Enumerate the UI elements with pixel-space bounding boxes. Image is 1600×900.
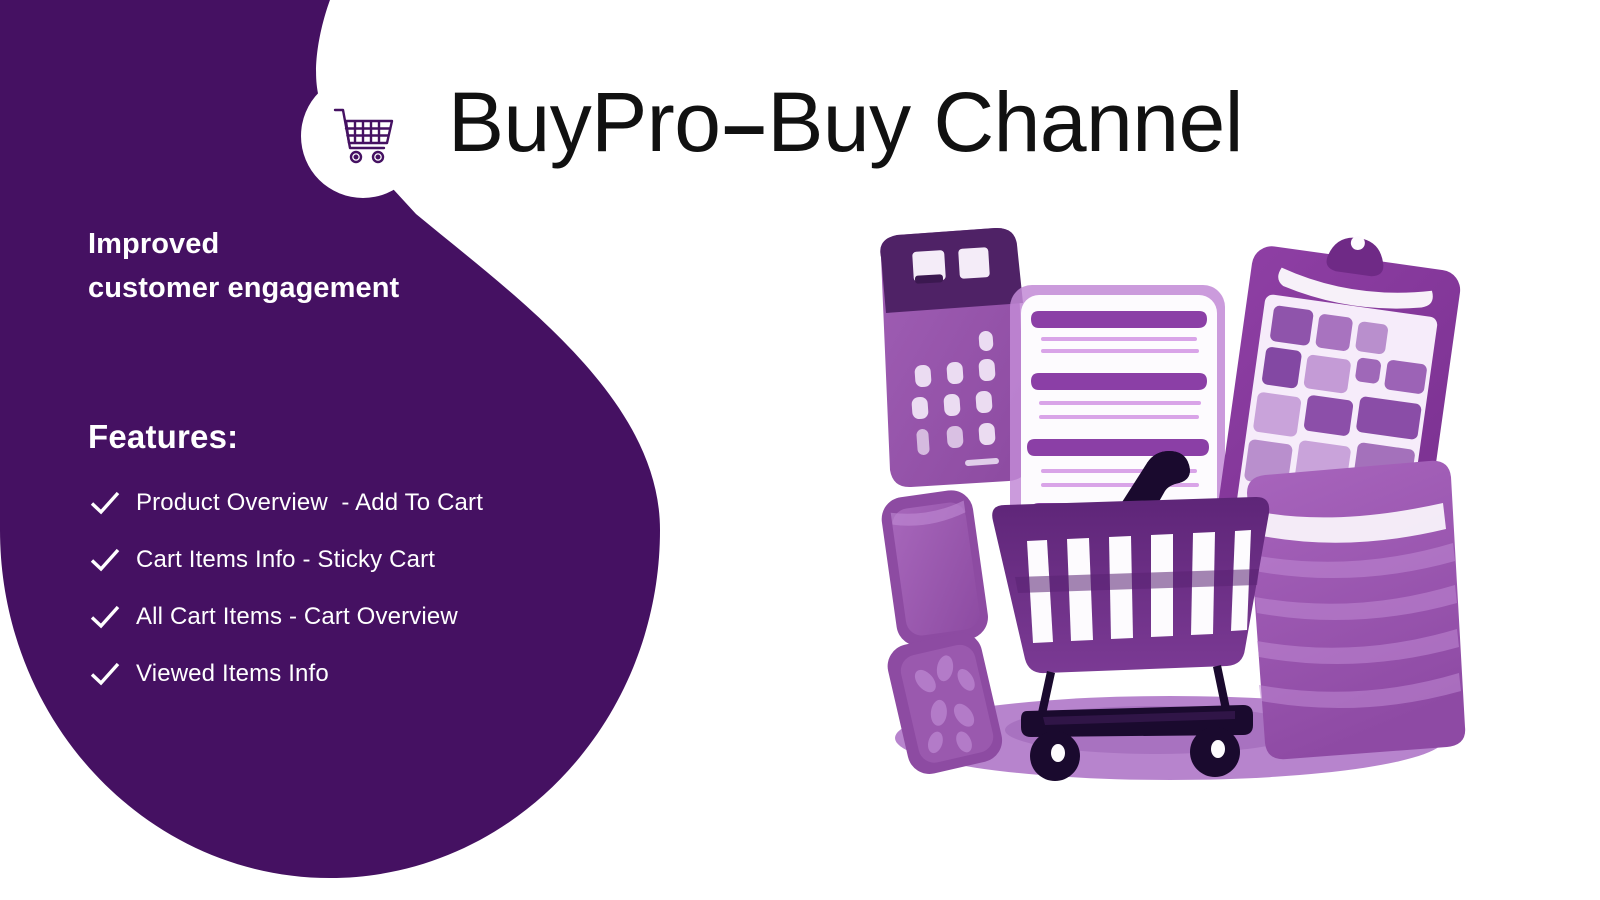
feature-item-product-overview: Product Overview - Add To Cart <box>88 474 648 531</box>
feature-label: All Cart Items - Cart Overview <box>136 603 458 631</box>
product-box-botanical <box>883 628 1006 778</box>
check-icon <box>88 486 122 520</box>
shopping-cart-icon <box>332 107 396 165</box>
features-heading: Features: <box>88 418 648 456</box>
product-box-plain <box>879 487 991 648</box>
feature-item-all-cart-items: All Cart Items - Cart Overview <box>88 588 648 645</box>
page-title: BuyPro–Buy Channel <box>448 80 1243 164</box>
title-dash: – <box>720 80 767 168</box>
title-product-name: BuyPro <box>448 75 720 169</box>
feature-item-cart-items-info: Cart Items Info - Sticky Cart <box>88 531 648 588</box>
logo-badge <box>303 76 423 196</box>
title-channel-name: Buy Channel <box>767 75 1243 169</box>
feature-label: Viewed Items Info <box>136 660 329 688</box>
feature-label: Product Overview - Add To Cart <box>136 489 483 517</box>
check-icon <box>88 543 122 577</box>
headline-line-1: Improved <box>88 222 558 266</box>
features-section: Features: Product Overview - Add To Cart… <box>88 418 648 702</box>
headline-line-2: customer engagement <box>88 266 558 310</box>
feature-item-viewed-items-info: Viewed Items Info <box>88 645 648 702</box>
ecommerce-illustration <box>855 225 1475 805</box>
slide-canvas: BuyPro–Buy Channel Improved customer eng… <box>0 0 1600 900</box>
check-icon <box>88 600 122 634</box>
card-reader-terminal <box>880 228 1027 487</box>
shopping-bag <box>1247 461 1465 759</box>
feature-label: Cart Items Info - Sticky Cart <box>136 546 435 574</box>
headline: Improved customer engagement <box>88 222 558 310</box>
check-icon <box>88 657 122 691</box>
